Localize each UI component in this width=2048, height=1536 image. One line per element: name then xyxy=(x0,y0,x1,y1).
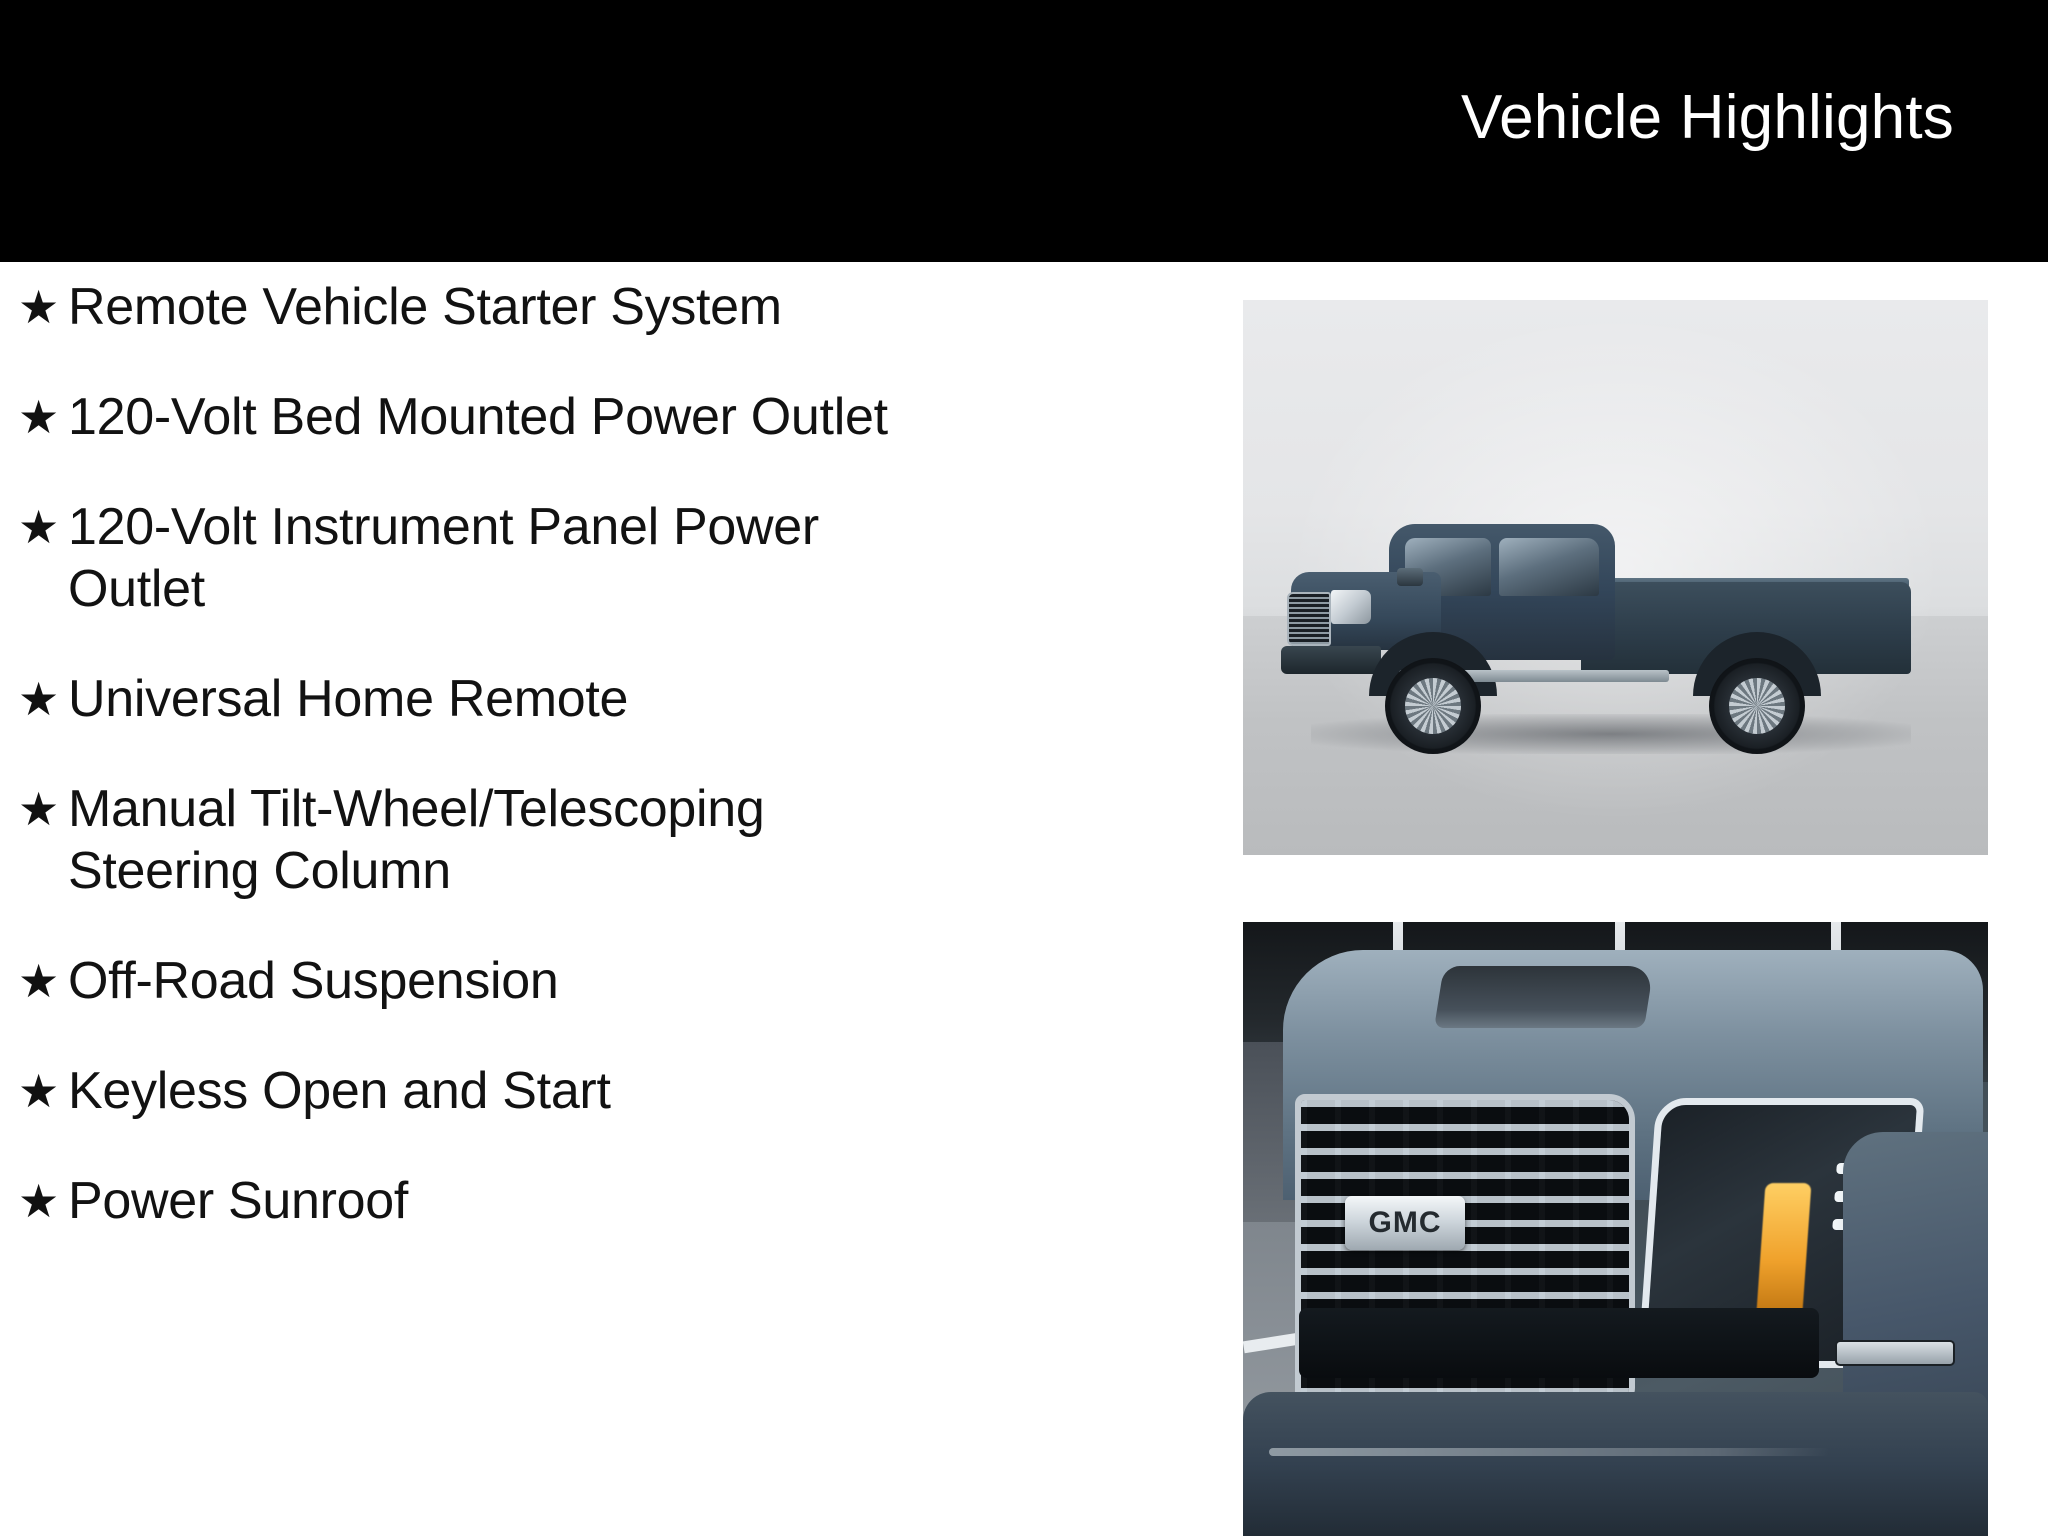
denali-badge xyxy=(1835,1340,1955,1366)
list-item-label: 120-Volt Instrument Panel Power Outlet xyxy=(68,496,1018,620)
hood-scoop xyxy=(1434,966,1654,1028)
star-icon: ★ xyxy=(18,1060,68,1122)
truck-side-mirror xyxy=(1397,568,1423,586)
star-icon: ★ xyxy=(18,668,68,730)
list-item: ★ Universal Home Remote xyxy=(18,668,1018,730)
slide-root: Vehicle Highlights ★ Remote Vehicle Star… xyxy=(0,0,2048,1536)
truck-illustration xyxy=(1281,506,1941,768)
vehicle-highlights-list: ★ Remote Vehicle Starter System ★ 120-Vo… xyxy=(0,276,1200,1536)
front-bumper xyxy=(1243,1392,1988,1536)
list-item: ★ Power Sunroof xyxy=(18,1170,1018,1232)
truck-exterior-photo xyxy=(1243,300,1988,855)
star-icon: ★ xyxy=(18,276,68,338)
truck-bumper xyxy=(1281,646,1381,674)
star-icon: ★ xyxy=(18,386,68,448)
list-item-label: Universal Home Remote xyxy=(68,668,1018,730)
list-item-label: Power Sunroof xyxy=(68,1170,1018,1232)
list-item: ★ Keyless Open and Start xyxy=(18,1060,1018,1122)
page-title: Vehicle Highlights xyxy=(1461,82,2048,181)
list-item: ★ 120-Volt Instrument Panel Power Outlet xyxy=(18,496,1018,620)
gmc-badge: GMC xyxy=(1345,1196,1465,1250)
list-item: ★ 120-Volt Bed Mounted Power Outlet xyxy=(18,386,1018,448)
truck-rear-window xyxy=(1499,538,1599,596)
star-icon: ★ xyxy=(18,778,68,840)
list-item-label: Off-Road Suspension xyxy=(68,950,1018,1012)
list-item: ★ Off-Road Suspension xyxy=(18,950,1018,1012)
bumper-highlight xyxy=(1269,1448,1829,1456)
truck-grille-closeup-photo: GMC xyxy=(1243,922,1988,1536)
star-icon: ★ xyxy=(18,950,68,1012)
turn-signal-lamp xyxy=(1756,1183,1812,1323)
list-item-label: Remote Vehicle Starter System xyxy=(68,276,1018,338)
list-item: ★ Manual Tilt-Wheel/Telescoping Steering… xyxy=(18,778,1018,902)
list-item-label: Manual Tilt-Wheel/Telescoping Steering C… xyxy=(68,778,1018,902)
list-item-label: 120-Volt Bed Mounted Power Outlet xyxy=(68,386,1018,448)
list-item-label: Keyless Open and Start xyxy=(68,1060,1018,1122)
star-icon: ★ xyxy=(18,496,68,558)
header-bar: Vehicle Highlights xyxy=(0,0,2048,262)
truck-front-wheel xyxy=(1385,658,1481,754)
list-item: ★ Remote Vehicle Starter System xyxy=(18,276,1018,338)
truck-headlight xyxy=(1331,590,1371,624)
truck-grille xyxy=(1287,592,1331,646)
star-icon: ★ xyxy=(18,1170,68,1232)
lower-air-dam xyxy=(1299,1308,1819,1378)
truck-rear-wheel xyxy=(1709,658,1805,754)
vehicle-photo-column: GMC xyxy=(1243,300,1988,1536)
